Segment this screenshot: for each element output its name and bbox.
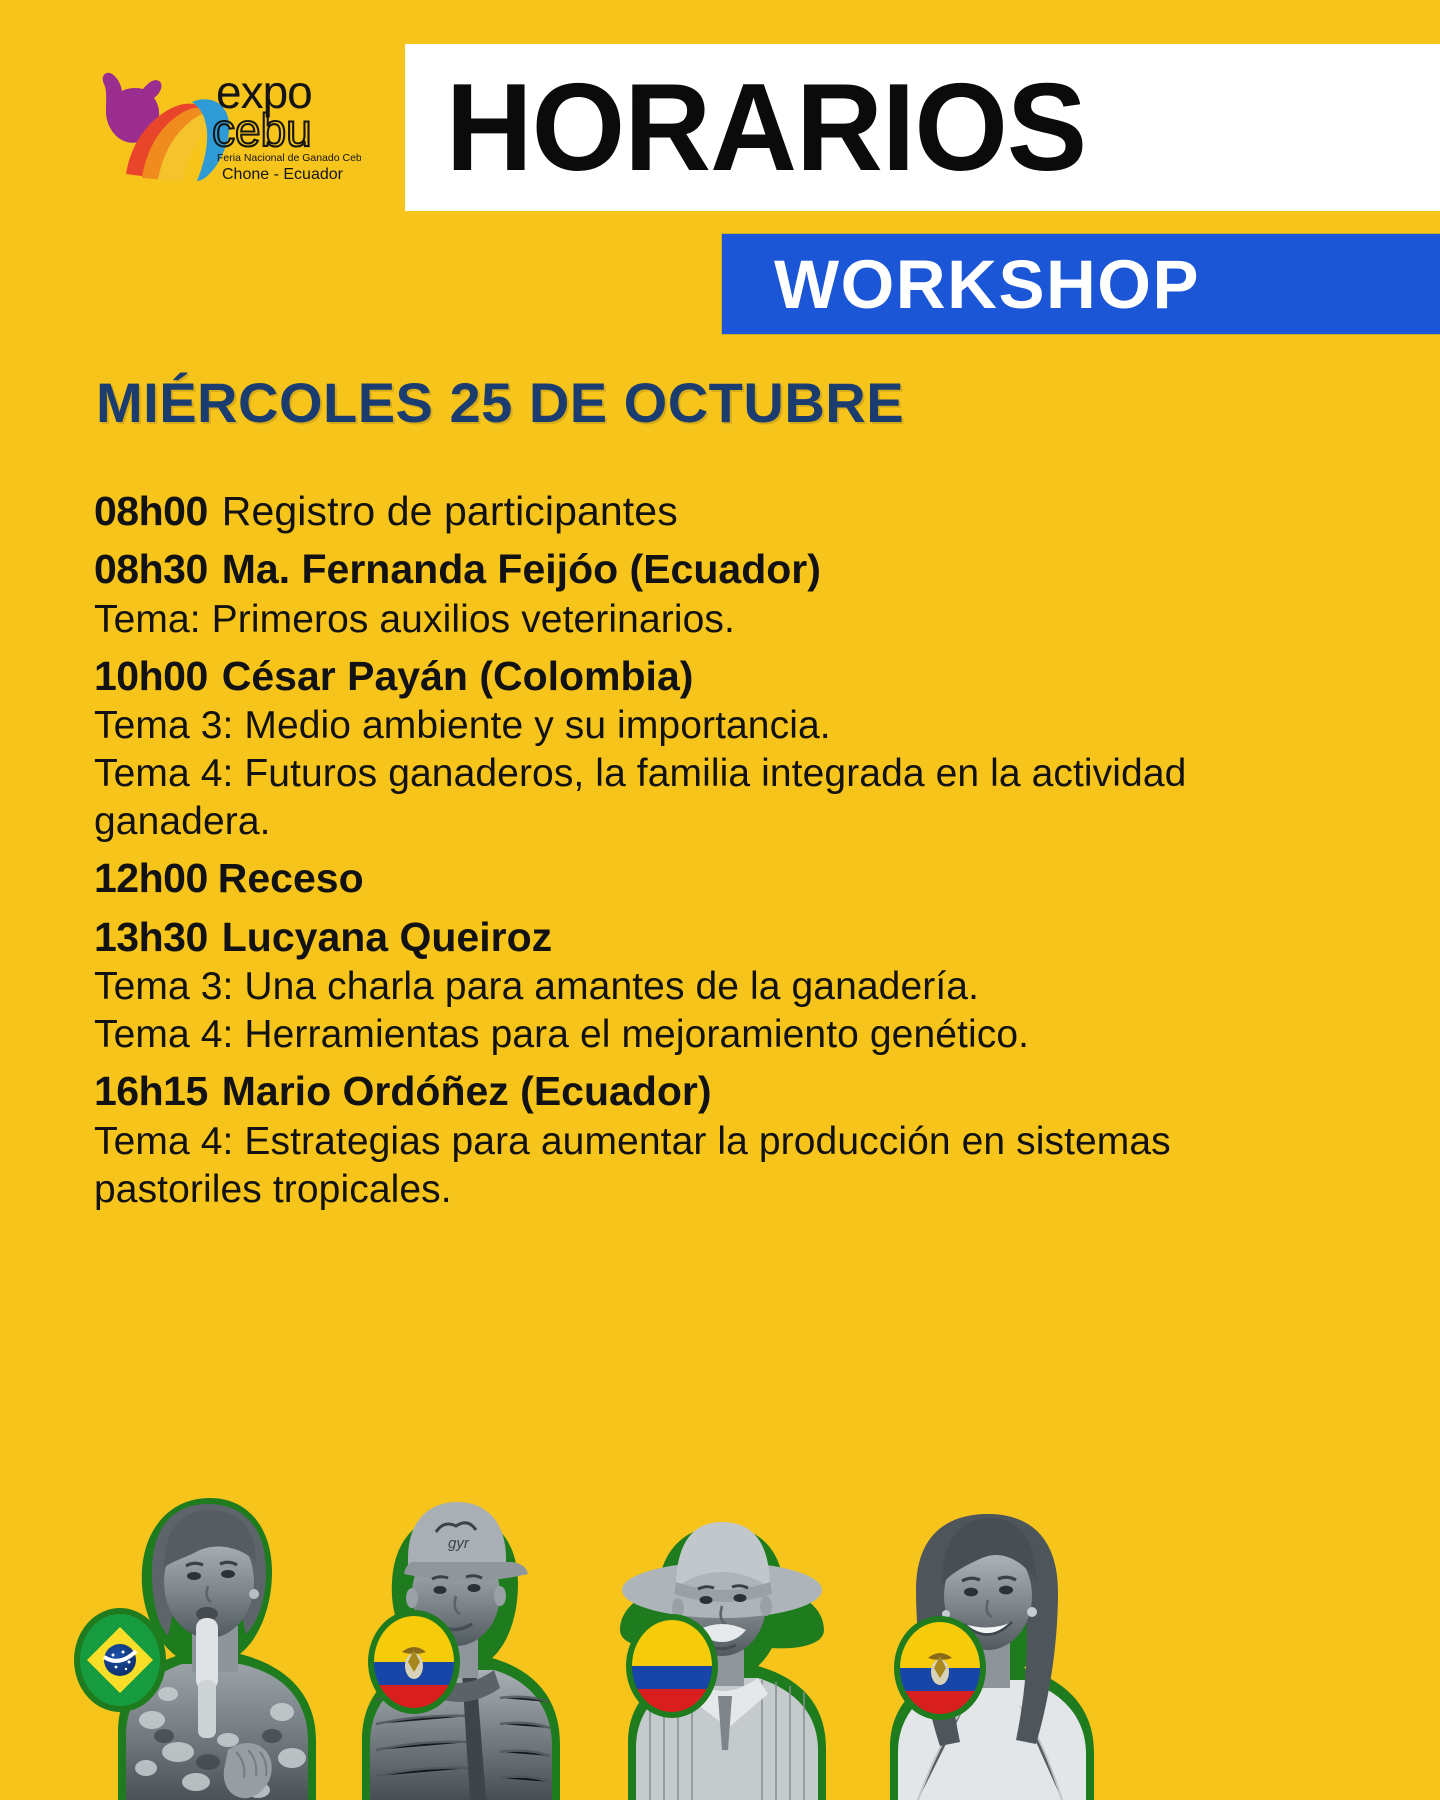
schedule-entry: 12h00Receso [94,852,1244,904]
colombia-flag [626,1614,718,1718]
schedule-topic: Tema: Primeros auxilios veterinarios. [94,596,1244,644]
schedule-topic: Tema 4: Futuros ganaderos, la familia in… [94,750,1244,846]
svg-text:cebu: cebu [212,104,312,156]
brazil-flag [74,1608,166,1712]
schedule-entry: 10h00César Payán (Colombia)Tema 3: Medio… [94,650,1244,846]
schedule-entry: 08h30Ma. Fernanda Feijóo (Ecuador)Tema: … [94,543,1244,643]
schedule-list: 08h00Registro de participantes08h30Ma. F… [94,485,1244,1220]
schedule-entry: 13h30Lucyana QueirozTema 3: Una charla p… [94,911,1244,1059]
schedule-topic: Tema 4: Estrategias para aumentar la pro… [94,1118,1244,1214]
schedule-entry-head: 08h30Ma. Fernanda Feijóo (Ecuador) [94,543,1244,595]
speakers-photo-strip: gyr [0,1300,1440,1800]
schedule-speaker: César Payán (Colombia) [222,653,694,699]
ecuador-flag [368,1610,460,1714]
title-band: HORARIOS [405,44,1440,211]
schedule-topic: Tema 3: Medio ambiente y su importancia. [94,702,1244,750]
schedule-entry: 08h00Registro de participantes [94,485,1244,537]
schedule-topic: Tema 3: Una charla para amantes de la ga… [94,963,1244,1011]
schedule-time: 16h15 [94,1068,208,1114]
schedule-time: 08h30 [94,546,208,592]
page-subtitle: WORKSHOP [722,250,1200,319]
schedule-entry-head: 10h00César Payán (Colombia) [94,650,1244,702]
cowboy-hat-icon [622,1522,822,1618]
logo-tagline: Feria Nacional de Ganado Cebú [217,152,361,164]
schedule-speaker: Ma. Fernanda Feijóo (Ecuador) [222,546,821,592]
schedule-entry-head: 16h15Mario Ordóñez (Ecuador) [94,1065,1244,1117]
date-heading: MIÉRCOLES 25 DE OCTUBRE [96,370,904,435]
expo-cebu-logo: expo cebu Feria Nacional de Ganado Cebú … [96,62,361,192]
schedule-speaker: Lucyana Queiroz [222,914,552,960]
microphone-icon [196,1618,218,1738]
schedule-entry-head: 13h30Lucyana Queiroz [94,911,1244,963]
schedule-speaker: Mario Ordóñez (Ecuador) [222,1068,712,1114]
schedule-entry-head: 12h00Receso [94,852,1244,904]
schedule-speaker: Receso [218,855,364,901]
schedule-time: 13h30 [94,914,208,960]
svg-text:gyr: gyr [448,1535,470,1552]
schedule-entry-head: 08h00Registro de participantes [94,485,1244,537]
subtitle-band: WORKSHOP [722,234,1440,334]
schedule-time: 10h00 [94,653,208,699]
poster-header: expo cebu Feria Nacional de Ganado Cebú … [0,0,1440,350]
ecuador-flag [894,1616,986,1720]
logo-wordmark-cebu: cebu [212,104,312,156]
schedule-speaker: Registro de participantes [222,488,678,534]
schedule-time: 08h00 [94,488,208,534]
logo-location: Chone - Ecuador [222,166,344,183]
schedule-topic: Tema 4: Herramientas para el mejoramient… [94,1011,1244,1059]
page-title: HORARIOS [405,66,1086,190]
schedule-time: 12h00 [94,855,208,901]
schedule-entry: 16h15Mario Ordóñez (Ecuador)Tema 4: Estr… [94,1065,1244,1213]
